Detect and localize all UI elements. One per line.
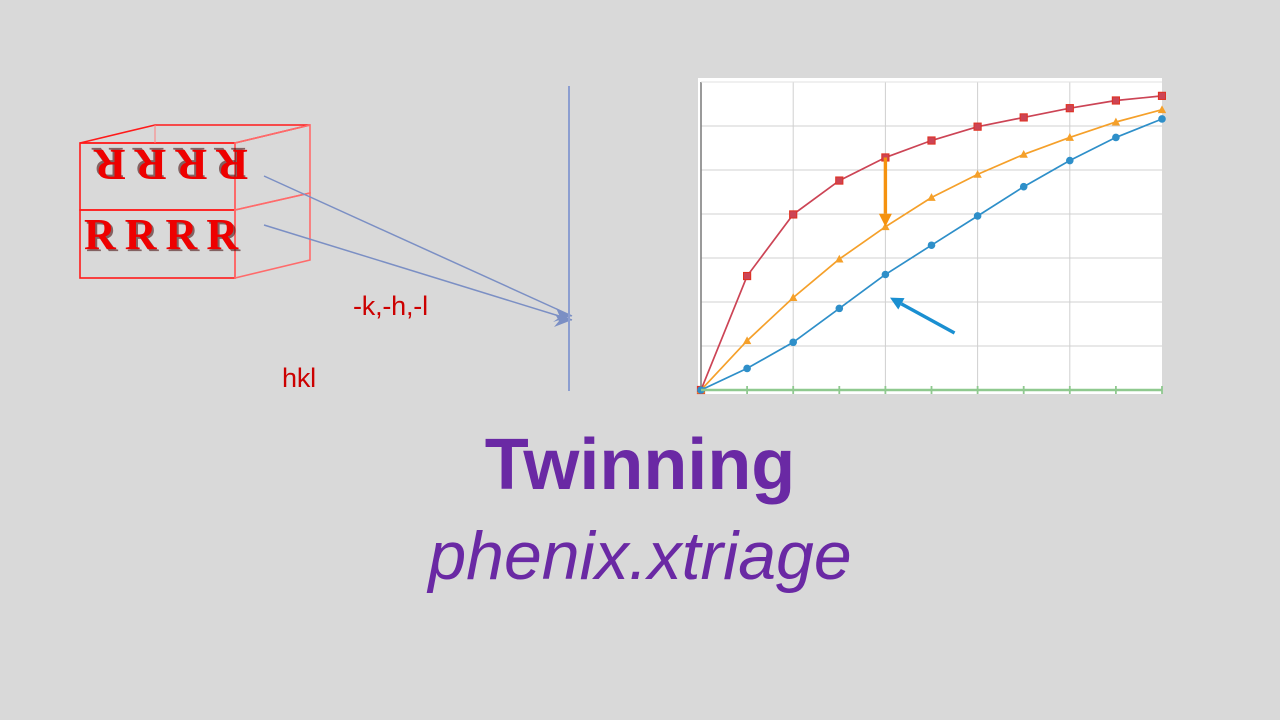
page-subtitle: phenix.xtriage xyxy=(0,508,1280,604)
data-point xyxy=(743,365,751,373)
label-twin-operator: -k,-h,-l xyxy=(353,291,428,322)
data-point xyxy=(836,177,843,184)
data-point xyxy=(1020,183,1028,191)
data-point xyxy=(928,137,935,144)
data-point xyxy=(1066,105,1073,112)
chart-svg xyxy=(694,74,1166,398)
data-point xyxy=(974,212,982,220)
twin-crystal-diagram: RRRR RRRR -k,-h,-l hkl xyxy=(60,120,580,340)
twin-domain-letters-rotated: RRRR xyxy=(85,139,248,190)
data-point xyxy=(836,305,844,313)
title-block: Twinning phenix.xtriage xyxy=(0,422,1280,604)
data-point xyxy=(974,123,981,130)
data-point xyxy=(928,241,936,249)
twin-domain-letters-normal: RRRR xyxy=(84,209,247,260)
plot-background xyxy=(698,78,1162,394)
data-point xyxy=(789,338,797,346)
data-point xyxy=(882,271,890,279)
data-point xyxy=(1020,114,1027,121)
data-point xyxy=(1158,115,1166,123)
data-point xyxy=(1158,92,1165,99)
cumulative-intensity-chart xyxy=(694,74,1166,398)
data-point xyxy=(1112,97,1119,104)
label-hkl: hkl xyxy=(282,363,316,394)
data-point xyxy=(790,211,797,218)
slide-root: RRRR RRRR -k,-h,-l hkl Twinning phenix.x… xyxy=(0,0,1280,720)
data-point xyxy=(1066,157,1074,165)
vertical-divider xyxy=(568,86,570,391)
data-point xyxy=(744,272,751,279)
data-point xyxy=(1112,134,1120,142)
page-title: Twinning xyxy=(0,422,1280,508)
